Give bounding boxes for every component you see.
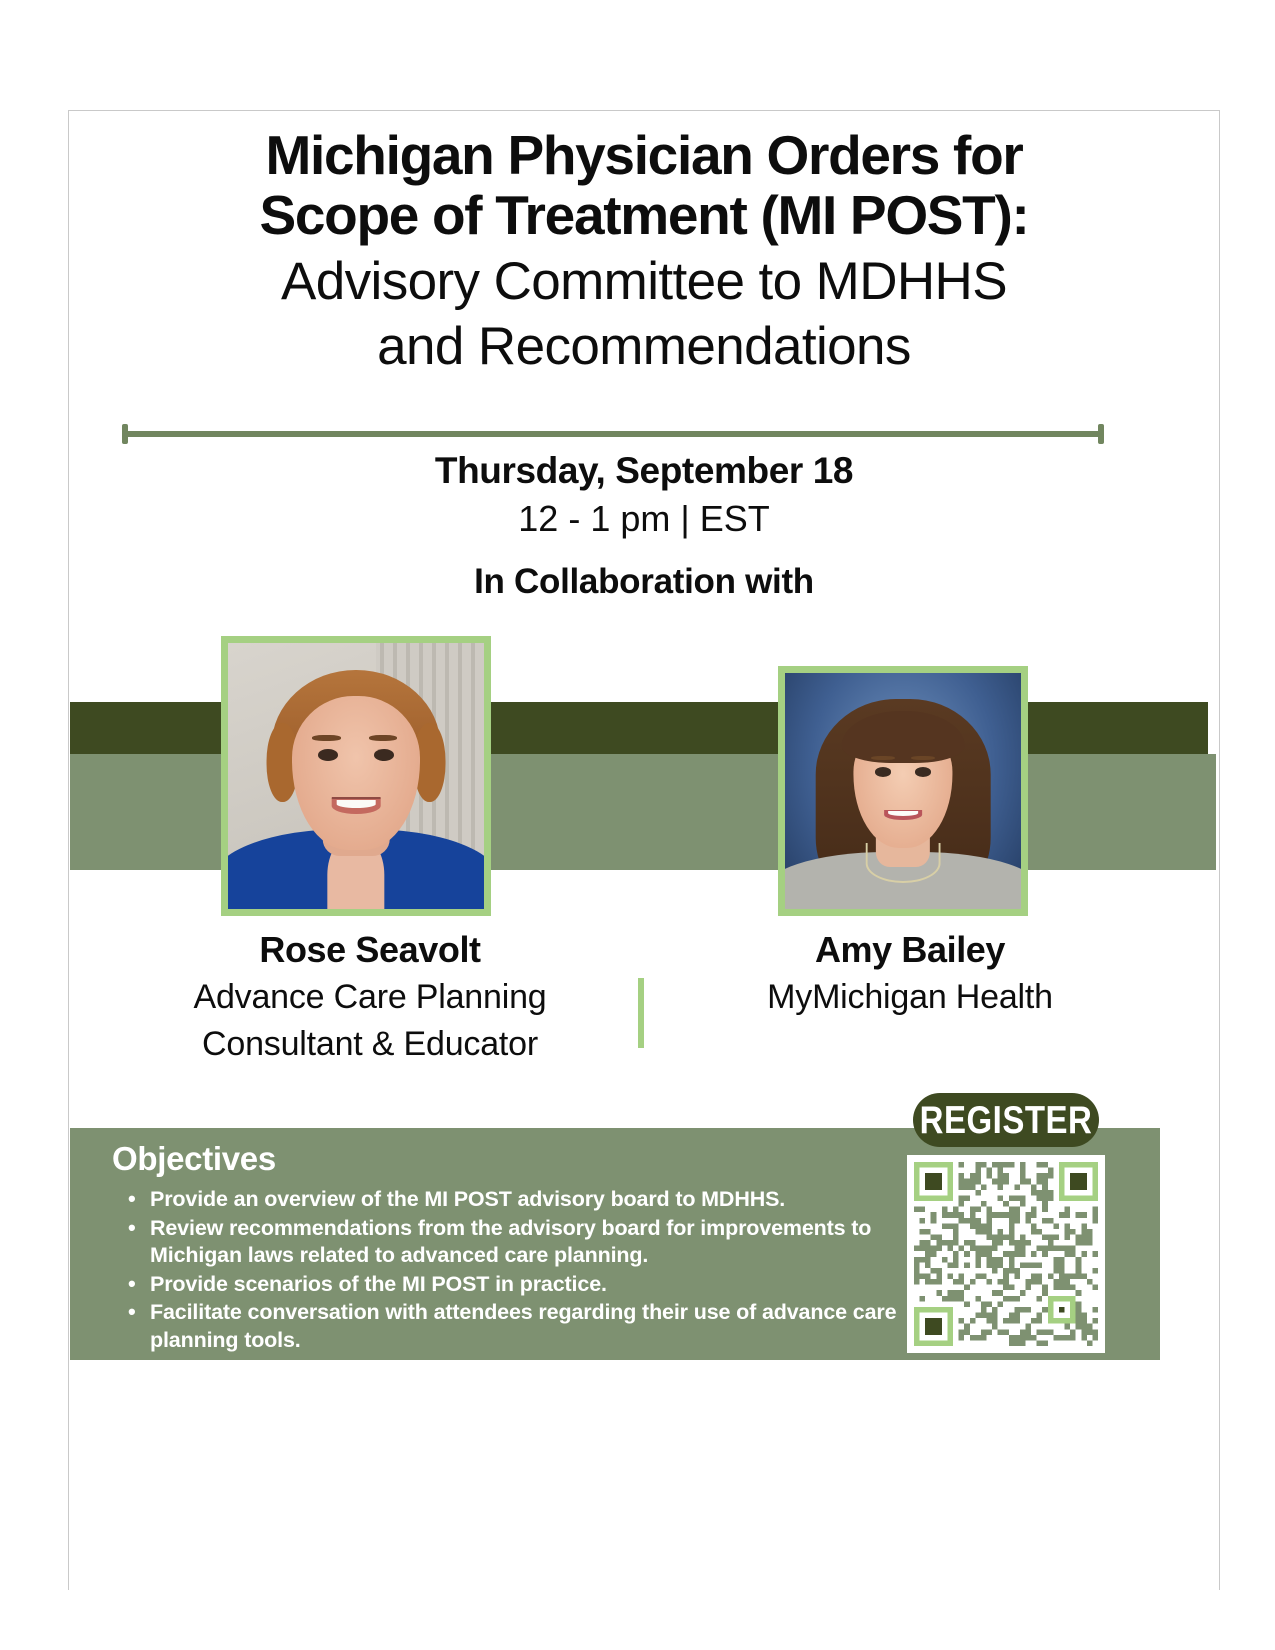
- portrait-eye-right: [915, 767, 932, 776]
- portrait-mouth: [332, 797, 381, 814]
- divider-rule: [122, 424, 1104, 444]
- title-line-1: Michigan Physician Orders for: [68, 126, 1220, 186]
- speaker-caption-amy-bailey: Amy Bailey MyMichigan Health: [660, 928, 1160, 1018]
- objective-item: Provide scenarios of the MI POST in prac…: [150, 1271, 940, 1299]
- title-line-2: Scope of Treatment (MI POST):: [68, 186, 1220, 246]
- portrait-face: [292, 696, 420, 850]
- portrait-illustration: [228, 643, 484, 909]
- speaker-vertical-divider: [638, 978, 644, 1048]
- speaker-role-line: MyMichigan Health: [660, 977, 1160, 1018]
- registration-qr-code[interactable]: [907, 1155, 1105, 1353]
- speaker-caption-rose-seavolt: Rose Seavolt Advance Care Planning Consu…: [120, 928, 620, 1065]
- portrait-illustration: [785, 673, 1021, 909]
- speaker-role-line: Advance Care Planning: [120, 977, 620, 1018]
- register-button-label: REGISTER: [920, 1098, 1093, 1143]
- portrait-necklace: [866, 843, 941, 883]
- objective-item: Provide an overview of the MI POST advis…: [150, 1186, 940, 1214]
- objective-item: Facilitate conversation with attendees r…: [150, 1299, 940, 1354]
- title-line-3: Advisory Committee to MDHHS: [68, 252, 1220, 311]
- event-time: 12 - 1 pm | EST: [68, 496, 1220, 541]
- rule-bar: [122, 431, 1104, 437]
- speaker-name: Amy Bailey: [660, 928, 1160, 971]
- event-details: Thursday, September 18 12 - 1 pm | EST I…: [68, 448, 1220, 603]
- portrait-brow-left: [312, 735, 340, 741]
- objectives-heading: Objectives: [112, 1140, 276, 1178]
- speaker-photo-rose-seavolt: [221, 636, 491, 916]
- objective-item: Review recommendations from the advisory…: [150, 1215, 940, 1270]
- portrait-brow-left: [871, 756, 895, 761]
- collaboration-label: In Collaboration with: [68, 561, 1220, 603]
- portrait-mouth: [884, 810, 922, 821]
- objectives-list: Provide an overview of the MI POST advis…: [124, 1186, 940, 1355]
- speaker-name: Rose Seavolt: [120, 928, 620, 971]
- portrait-brow-right: [911, 756, 935, 761]
- portrait-eye-left: [875, 767, 892, 776]
- register-button[interactable]: REGISTER: [913, 1093, 1099, 1147]
- speaker-photo-amy-bailey: [778, 666, 1028, 916]
- portrait-brow-right: [369, 735, 397, 741]
- event-date: Thursday, September 18: [68, 448, 1220, 493]
- title-line-4: and Recommendations: [68, 317, 1220, 376]
- speaker-role-line: Consultant & Educator: [120, 1024, 620, 1065]
- qr-canvas: [914, 1162, 1098, 1346]
- rule-cap-right: [1098, 424, 1104, 444]
- page-title: Michigan Physician Orders for Scope of T…: [68, 126, 1220, 377]
